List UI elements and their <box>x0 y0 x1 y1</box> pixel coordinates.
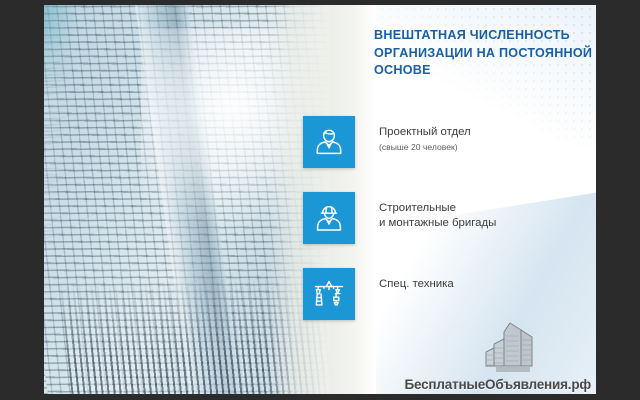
list-item-text: Спец. техника <box>379 268 454 293</box>
tower-crane-icon <box>303 268 355 320</box>
list-item[interactable]: Строительные и монтажные бригады <box>303 192 596 268</box>
list-item-text: Строительные и монтажные бригады <box>379 192 496 231</box>
construction-worker-icon <box>303 192 355 244</box>
skyscraper-photo <box>44 5 330 394</box>
list-item-label: Проектный отдел <box>379 125 471 140</box>
list-item-label: Спец. техника <box>379 277 454 292</box>
list-item-label: Строительные и монтажные бригады <box>379 201 496 230</box>
promo-slide: ВНЕШТАТНАЯ ЧИСЛЕННОСТЬ ОРГАНИЗАЦИИ НА ПО… <box>44 5 596 394</box>
list-item-text: Проектный отдел (свыше 20 человек) <box>379 116 471 153</box>
list-item[interactable]: Проектный отдел (свыше 20 человек) <box>303 116 596 192</box>
buildings-logo-icon <box>480 320 542 376</box>
list-item-subtitle: (свыше 20 человек) <box>379 141 471 153</box>
businessman-icon <box>303 116 355 168</box>
feature-list: Проектный отдел (свыше 20 человек) <box>303 116 596 344</box>
page-title: ВНЕШТАТНАЯ ЧИСЛЕННОСТЬ ОРГАНИЗАЦИИ НА ПО… <box>374 27 596 80</box>
list-item[interactable]: Спец. техника <box>303 268 596 344</box>
screenshot-frame: ВНЕШТАТНАЯ ЧИСЛЕННОСТЬ ОРГАНИЗАЦИИ НА ПО… <box>0 0 640 400</box>
watermark-text: БесплатныеОбъявления.рф <box>404 377 591 392</box>
